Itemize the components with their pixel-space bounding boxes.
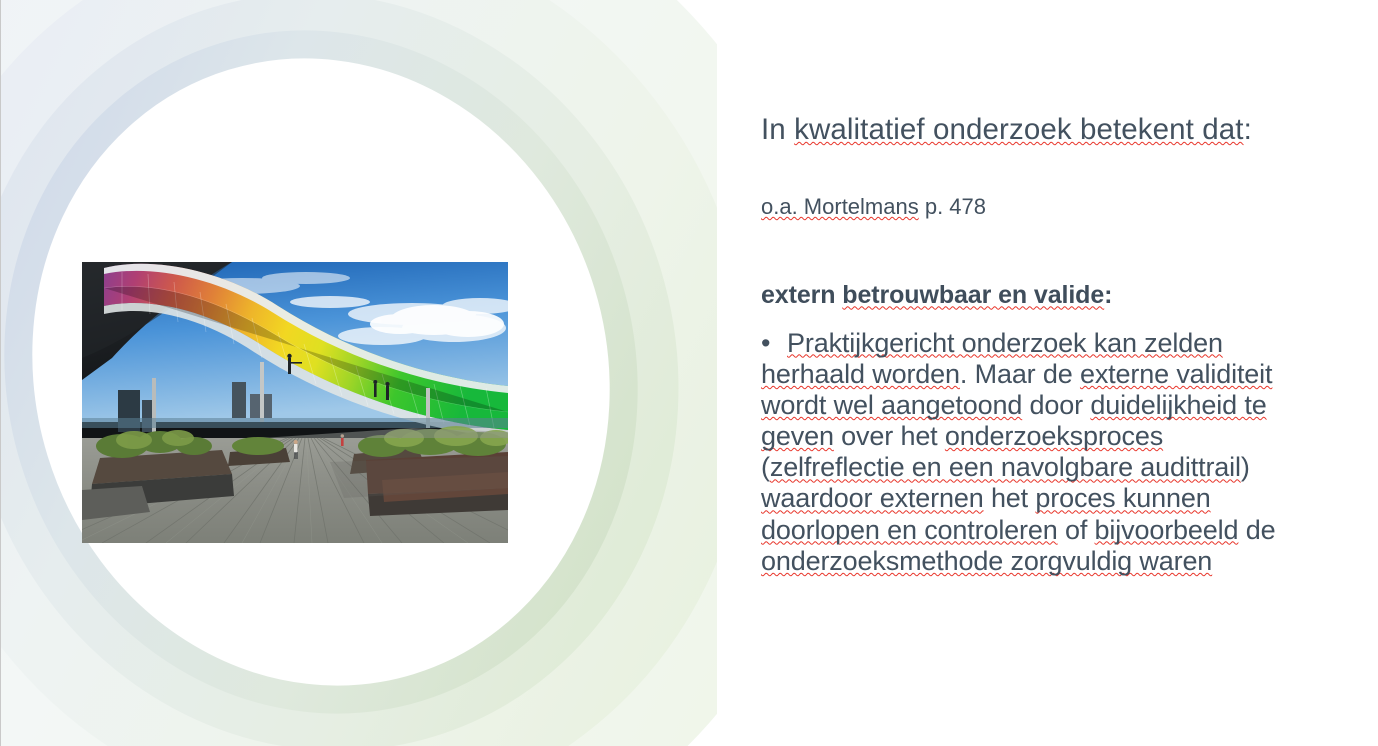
subheading-prefix: extern — [761, 281, 842, 309]
slide-subheading: extern betrouwbaar en valide: — [761, 280, 1301, 311]
body-segment-14: bijvoorbeeld — [1095, 515, 1239, 545]
bullet-body-text: Praktijkgericht onderzoek kan zelden her… — [761, 328, 1275, 576]
bullet-list-item: •Praktijkgericht onderzoek kan zelden he… — [761, 328, 1301, 577]
body-segment-3: door — [1022, 390, 1090, 420]
body-segment-13: of — [1058, 515, 1095, 545]
slide-photo — [82, 262, 508, 543]
source-page-number: p. 478 — [919, 194, 986, 219]
rainbow-panorama-illustration — [82, 262, 508, 543]
body-segment-5: over het — [834, 421, 945, 451]
body-segment-9: ) — [1241, 452, 1250, 482]
subheading-spellchecked-text: betrouwbaar en valide — [842, 281, 1104, 309]
bullet-marker-icon: • — [761, 328, 787, 359]
body-segment-10: waardoor externen — [761, 483, 984, 513]
body-segment-15: de — [1238, 515, 1275, 545]
body-segment-7: ( — [761, 452, 770, 482]
body-segment-16: onderzoeksmethode zorgvuldig waren — [761, 546, 1212, 576]
slide-heading: In kwalitatief onderzoek betekent dat: — [761, 112, 1301, 149]
heading-suffix: : — [1244, 113, 1252, 146]
source-spellchecked-text: o.a. Mortelmans — [761, 194, 919, 219]
heading-prefix: In — [761, 113, 794, 146]
body-segment-11: het — [984, 483, 1036, 513]
left-gutter-strip — [1, 0, 10, 746]
slide-text-content: In kwalitatief onderzoek betekent dat: o… — [761, 112, 1301, 577]
body-segment-1: . Maar de — [960, 359, 1080, 389]
slide-source-reference: o.a. Mortelmans p. 478 — [761, 193, 1301, 221]
body-segment-6: onderzoeksproces — [945, 421, 1163, 451]
body-segment-8: zelfreflectie en een navolgbare audittra… — [770, 452, 1241, 482]
subheading-suffix: : — [1104, 281, 1112, 309]
heading-spellchecked-text: kwalitatief onderzoek betekent dat — [794, 113, 1243, 146]
slide-canvas: In kwalitatief onderzoek betekent dat: o… — [0, 0, 1378, 746]
